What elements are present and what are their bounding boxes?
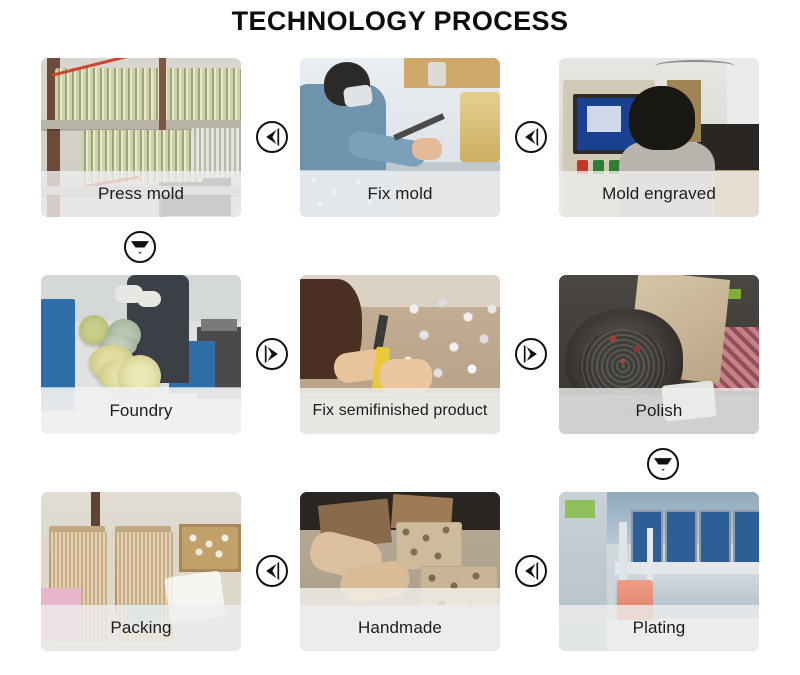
process-step-card-polish[interactable]: Polish — [559, 275, 759, 434]
arrow-left-circle-icon — [515, 121, 547, 153]
step-label: Plating — [633, 618, 686, 638]
step-label-band: Foundry — [41, 388, 241, 434]
process-step-card-fix-semifinished-product[interactable]: Fix semifinished product — [300, 275, 500, 434]
process-step-card-plating[interactable]: Plating — [559, 492, 759, 651]
process-step-card-handmade[interactable]: Handmade — [300, 492, 500, 651]
arrow-down-circle-icon — [647, 448, 679, 480]
page-title: TECHNOLOGY PROCESS — [0, 6, 800, 37]
step-label: Fix mold — [367, 184, 432, 204]
arrow-left-circle-icon — [256, 121, 288, 153]
step-label-band: Fix semifinished product — [300, 388, 500, 434]
step-label: Packing — [110, 618, 171, 638]
step-label: Handmade — [358, 618, 442, 638]
step-label-band: Polish — [559, 388, 759, 434]
process-step-card-packing[interactable]: Packing — [41, 492, 241, 651]
step-label-band: Press mold — [41, 171, 241, 217]
arrow-left-circle-icon — [515, 555, 547, 587]
step-label: Fix semifinished product — [313, 402, 488, 420]
step-label-band: Handmade — [300, 605, 500, 651]
arrow-left-circle-icon — [256, 555, 288, 587]
process-step-card-press-mold[interactable]: Press mold — [41, 58, 241, 217]
arrow-right-circle-icon — [515, 338, 547, 370]
step-label-band: Mold engraved — [559, 171, 759, 217]
arrow-down-circle-icon — [124, 231, 156, 263]
process-step-card-fix-mold[interactable]: Fix mold — [300, 58, 500, 217]
step-label: Press mold — [98, 184, 184, 204]
step-label-band: Fix mold — [300, 171, 500, 217]
process-step-card-mold-engraved[interactable]: Mold engraved — [559, 58, 759, 217]
step-label: Foundry — [109, 401, 172, 421]
arrow-right-circle-icon — [256, 338, 288, 370]
step-label: Mold engraved — [602, 184, 716, 204]
process-step-card-foundry[interactable]: Foundry — [41, 275, 241, 434]
step-label-band: Plating — [559, 605, 759, 651]
step-label: Polish — [636, 401, 683, 421]
step-label-band: Packing — [41, 605, 241, 651]
